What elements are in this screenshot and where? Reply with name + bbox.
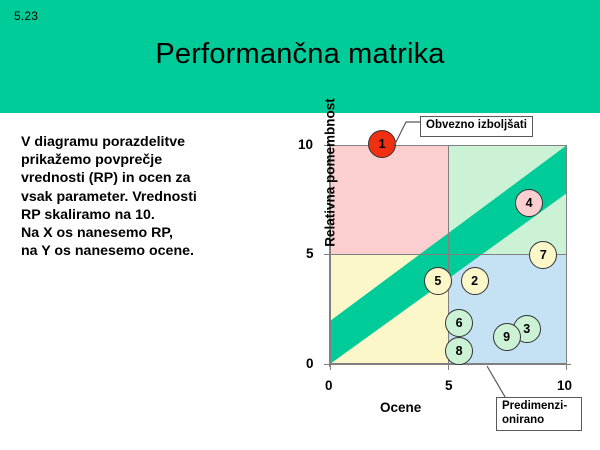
x-tick-10 <box>566 364 567 370</box>
data-point-label: 5 <box>434 274 441 288</box>
callout-line: Predimenzi- <box>502 400 576 414</box>
data-point-layer: 123456789 <box>330 145 567 364</box>
y-axis-tick-label: 0 <box>306 356 314 371</box>
data-point-label: 6 <box>456 316 463 330</box>
callout-obvezno-izboljsati: Obvezno izboljšati <box>420 116 533 137</box>
data-point-6: 6 <box>445 309 473 337</box>
data-point-8: 8 <box>445 337 473 365</box>
body-text-line: vsak parameter. Vrednosti <box>21 188 271 206</box>
data-point-9: 9 <box>493 323 521 351</box>
x-axis-title: Ocene <box>380 400 421 415</box>
callout-predimenzionirano: Predimenzi- onirano <box>496 397 582 431</box>
data-point-2: 2 <box>461 267 489 295</box>
body-text-line: prikažemo povprečje <box>21 151 271 169</box>
data-point-label: 8 <box>456 344 463 358</box>
x-axis-tick-label: 10 <box>557 378 572 393</box>
y-axis-tick-label: 5 <box>306 246 314 261</box>
data-point-label: 1 <box>379 137 386 151</box>
y-axis-tick-label: 10 <box>298 137 313 152</box>
callout-line: onirano <box>502 414 576 428</box>
body-text-line: RP skaliramo na 10. <box>21 206 271 224</box>
data-point-7: 7 <box>529 241 557 269</box>
x-axis-tick-label: 5 <box>445 378 453 393</box>
data-point-label: 4 <box>526 196 533 210</box>
data-point-label: 7 <box>540 248 547 262</box>
body-text-line: na Y os nanesemo ocene. <box>21 242 271 260</box>
data-point-label: 2 <box>471 274 478 288</box>
page-number: 5.23 <box>14 9 38 23</box>
body-text-line: V diagramu porazdelitve <box>21 133 271 151</box>
data-point-label: 9 <box>503 330 510 344</box>
page-title: Performančna matrika <box>0 38 600 71</box>
slide: 5.23 Performančna matrika V diagramu por… <box>0 0 600 450</box>
body-text-line: Na X os nanesemo RP, <box>21 224 271 242</box>
body-text: V diagramu porazdelitve prikažemo povpre… <box>21 133 271 260</box>
x-tick-0 <box>330 364 331 370</box>
data-point-1: 1 <box>368 130 396 158</box>
data-point-4: 4 <box>515 189 543 217</box>
leader-line-top <box>394 122 422 146</box>
data-point-5: 5 <box>424 267 452 295</box>
data-point-label: 3 <box>523 322 530 336</box>
body-text-line: vrednosti (RP) in ocen za <box>21 169 271 187</box>
x-axis-tick-label: 0 <box>325 378 333 393</box>
x-tick-5 <box>448 364 449 370</box>
performance-matrix-chart: 10 5 0 0 5 10 Relativna pomembnost Ocene… <box>270 110 600 430</box>
